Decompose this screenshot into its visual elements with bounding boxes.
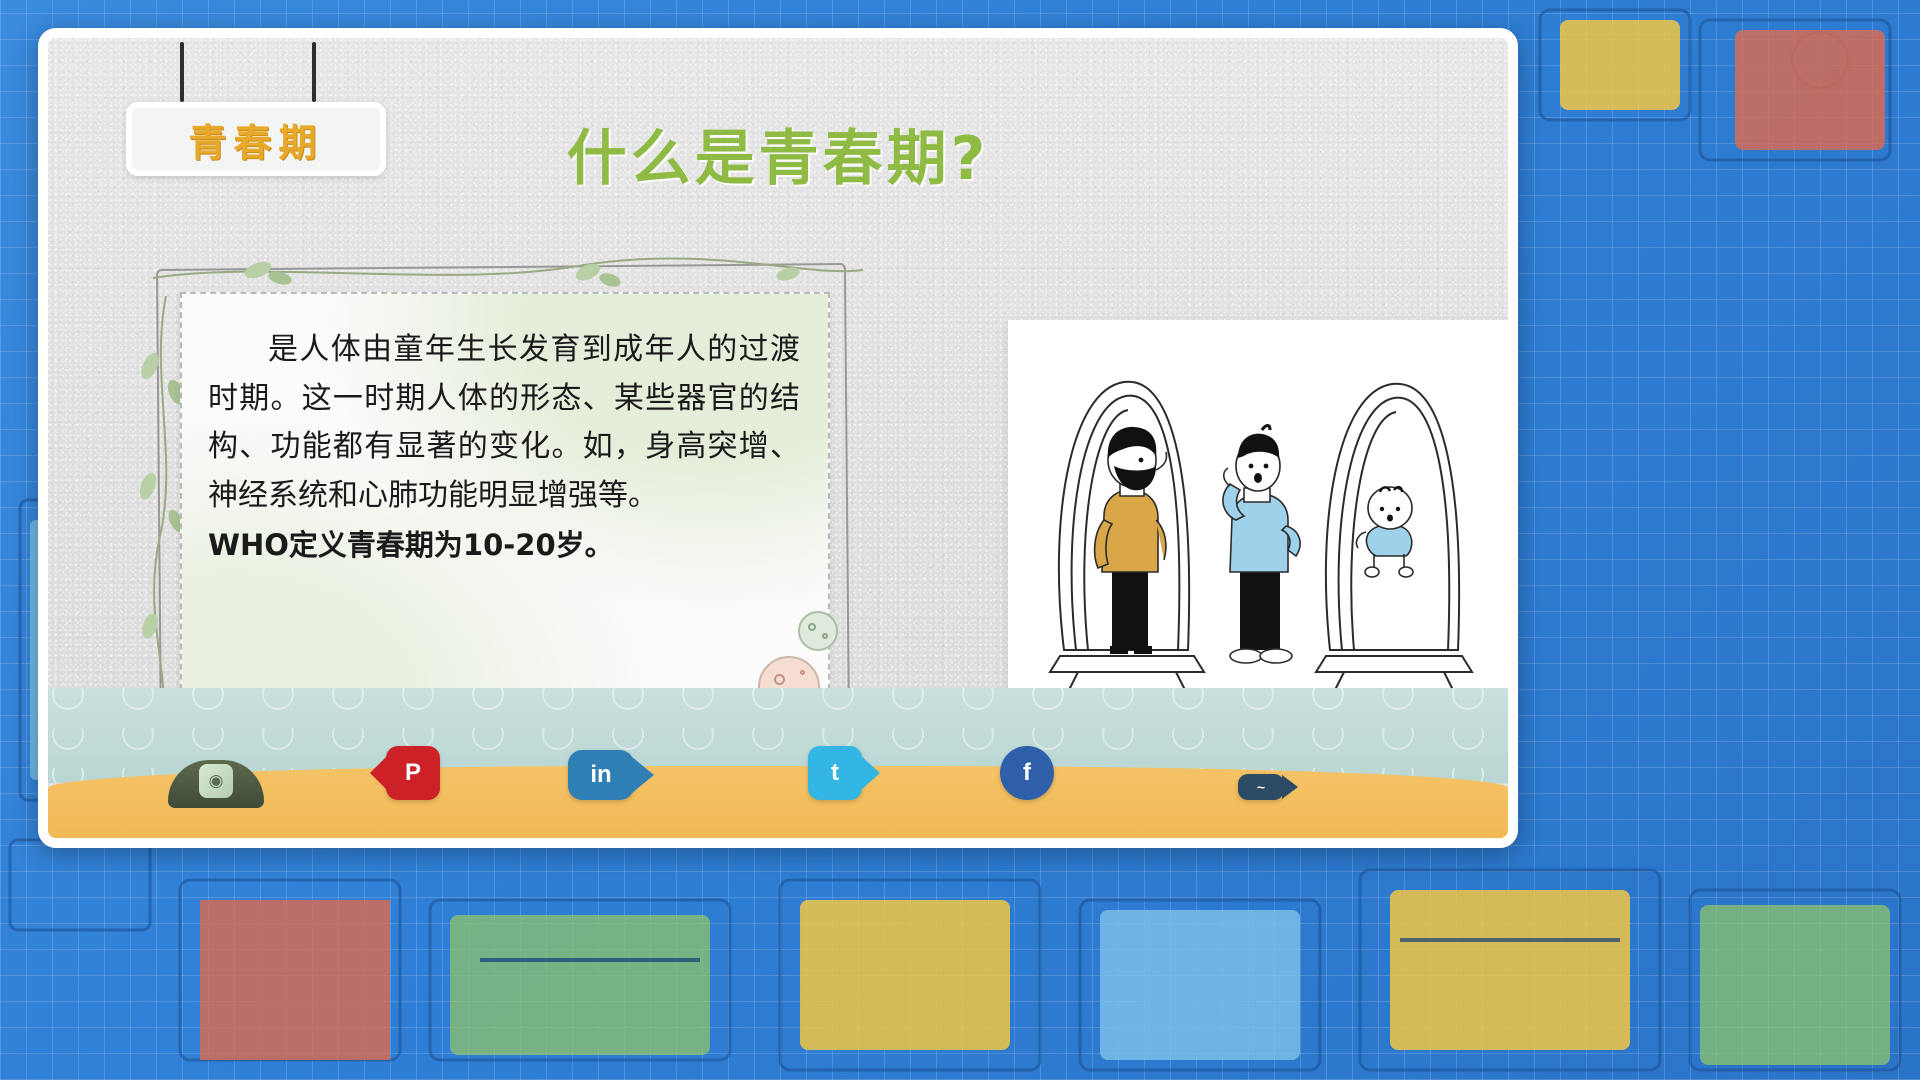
definition-paragraph: 是人体由童年生长发育到成年人的过渡时期。这一时期人体的形态、某些器官的结构、功能… [208,332,800,513]
plain-fish-label: ~ [1257,779,1265,795]
fish-tail [370,755,388,791]
slide-card: 青春期 什么是青春期? [38,28,1518,848]
string-right [312,42,316,102]
twitter-label: t [831,759,839,787]
three-mirrors-illustration [1008,320,1508,720]
clam-shell: ◉ [168,760,264,808]
bottom-item-0[interactable]: ◉ [168,760,264,808]
who-definition-line: WHO定义青春期为10-20岁。 [208,522,800,569]
fish-tail [1282,775,1298,799]
bottom-item-5[interactable]: ~ [1238,774,1284,800]
instagram-icon: ◉ [199,764,233,798]
page-root: 青春期 什么是青春期? [0,0,1920,1080]
twitter-icon: t [808,746,862,800]
bottom-item-1[interactable]: P [386,746,440,800]
pinterest-label: P [405,759,421,787]
facebook-icon: f [1000,746,1054,800]
bottom-item-3[interactable]: t [808,746,862,800]
definition-body: 是人体由童年生长发育到成年人的过渡时期。这一时期人体的形态、某些器官的结构、功能… [182,294,828,569]
sign-strings [126,42,386,102]
pinterest-icon: P [386,746,440,800]
growth-illustration-card [1008,320,1508,720]
fish-tail [632,757,654,793]
bottom-item-2[interactable]: in [568,750,634,800]
facebook-label: f [1023,759,1031,787]
page-title: 什么是青春期? [48,110,1508,197]
linkedin-icon: in [568,750,634,800]
plain-fish-icon: ~ [1238,774,1284,800]
definition-panel: 是人体由童年生长发育到成年人的过渡时期。这一时期人体的形态、某些器官的结构、功能… [158,266,848,738]
string-left [180,42,184,102]
bottom-item-4[interactable]: f [1000,746,1054,800]
fish-tail [860,755,880,791]
linkedin-label: in [590,761,611,789]
bottom-water-scene: ◉ P in t [48,688,1508,838]
definition-text-box: 是人体由童年生长发育到成年人的过渡时期。这一时期人体的形态、某些器官的结构、功能… [180,292,830,720]
green-dot-circle-decoration [798,611,838,651]
